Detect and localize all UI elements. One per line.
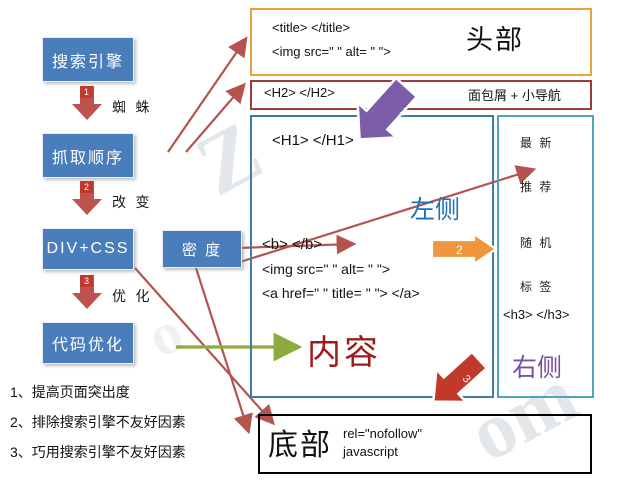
breadcrumb-h2-tag: <H2> </H2> [264, 85, 335, 100]
sidebar-item-tags[interactable]: 标 签 [520, 278, 553, 295]
sidebar-label: 右侧 [512, 348, 562, 384]
breadcrumb-label: 面包屑 + 小导航 [468, 85, 561, 104]
flow-box-crawl-order[interactable]: 抓取顺序 [42, 133, 134, 178]
note-item-3: 3、巧用搜索引擎不友好因素 [10, 442, 186, 462]
step-label-spider: 蜘 蛛 [112, 97, 153, 117]
content-main-label: 内容 [307, 325, 381, 374]
content-a-tag: <a href=" " title= " "> </a> [262, 285, 420, 301]
flow-box-label: DIV+CSS [47, 240, 130, 258]
sidebar-h3-tag: <h3> </h3> [503, 307, 570, 322]
content-h1-tag: <H1> </H1> [272, 132, 354, 149]
header-title-tag: <title> </title> [272, 20, 350, 35]
flow-box-label: 密 度 [182, 239, 222, 260]
flow-box-label: 抓取顺序 [52, 144, 124, 168]
watermark-c: o [136, 297, 195, 372]
layout-header-box[interactable] [250, 8, 592, 76]
diagram-canvas: Z om o 搜索引擎 抓取顺序 DIV+CSS [0, 0, 624, 480]
content-b-tag: <b> </b> [262, 236, 322, 253]
content-img-tag: <img src=" " alt= " "> [262, 261, 390, 277]
flow-box-div-css[interactable]: DIV+CSS [42, 228, 134, 270]
flow-box-label: 代码优化 [52, 331, 124, 355]
step-badge-1: 1 [80, 86, 93, 98]
sidebar-item-recommended[interactable]: 推 荐 [520, 178, 553, 195]
sidebar-item-random[interactable]: 随 机 [520, 234, 553, 251]
step-badge-3: 3 [80, 275, 93, 287]
footer-rel-text: rel="nofollow" [343, 426, 422, 441]
flow-box-density[interactable]: 密 度 [162, 230, 242, 268]
content-left-label: 左侧 [410, 190, 460, 226]
header-img-tag: <img src=" " alt= " "> [272, 44, 391, 59]
note-item-2: 2、排除搜索引擎不友好因素 [10, 412, 186, 432]
step-label-optimize: 优 化 [112, 286, 153, 306]
header-label: 头部 [466, 18, 524, 57]
footer-js-text: javascript [343, 444, 398, 459]
step-badge-2: 2 [80, 181, 93, 193]
footer-label: 底部 [268, 420, 332, 464]
step-label-change: 改 变 [112, 192, 153, 212]
flow-box-search-engine[interactable]: 搜索引擎 [42, 37, 134, 82]
flow-box-label: 搜索引擎 [52, 48, 124, 72]
sidebar-item-latest[interactable]: 最 新 [520, 134, 553, 151]
note-item-1: 1、提高页面突出度 [10, 382, 130, 402]
flow-box-code-optimization[interactable]: 代码优化 [42, 322, 134, 364]
